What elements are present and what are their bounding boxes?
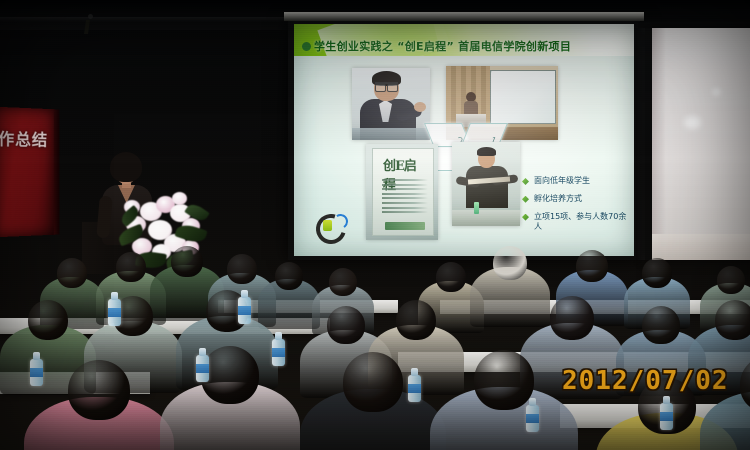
slide-bullet-list: 面向低年级学生 孵化培养方式 立项15项、参与人数70余人 xyxy=(522,176,630,240)
text-line xyxy=(382,193,428,195)
head xyxy=(68,360,130,420)
poster-heading: 创E启程 xyxy=(383,155,427,177)
head xyxy=(642,258,672,288)
head xyxy=(474,350,534,410)
bottle-label xyxy=(108,308,121,317)
head xyxy=(396,300,436,340)
bullet-item: 面向低年级学生 xyxy=(522,176,630,187)
head xyxy=(275,262,303,290)
water-bottle xyxy=(108,292,121,326)
poster-footer xyxy=(385,222,425,230)
slide-title-badge xyxy=(302,42,311,51)
light-blue-shirt-person xyxy=(430,350,578,450)
poster-sheet: 创E启程 xyxy=(372,148,434,236)
innovation-circle-logo-icon xyxy=(316,212,346,238)
poster-body-lines xyxy=(382,179,428,223)
slide-title-text: 学生创业实践之 “创E启程” 首届电信学院创新项目 xyxy=(314,40,571,53)
slide-photo-speaker xyxy=(352,68,430,140)
screen-diagonal xyxy=(491,71,555,123)
camera-date-stamp: 2012/07/02 xyxy=(562,366,729,396)
bullet-item: 立项15项、参与人数70余人 xyxy=(522,212,630,234)
presenter-hair xyxy=(110,152,142,182)
banner-text: 作总结 xyxy=(0,125,51,150)
bullet-text: 面向低年级学生 xyxy=(534,176,590,187)
text-line xyxy=(382,179,428,181)
inner-screen xyxy=(490,70,556,124)
pink-shirt-youth xyxy=(24,360,174,450)
bottle-cap xyxy=(241,290,248,298)
bottle-cap xyxy=(199,348,206,356)
text-line xyxy=(382,188,428,190)
bullet-text: 孵化培养方式 xyxy=(534,194,582,205)
conference-photo: 作总结 学生创业实践之 “创E启程” 首届电信学院创新项目 xyxy=(0,0,750,450)
water-bottle xyxy=(30,352,43,386)
bullet-marker-icon xyxy=(522,214,529,221)
head xyxy=(116,252,146,282)
screen-glare-spot xyxy=(684,116,701,129)
text-line xyxy=(382,211,428,213)
flower xyxy=(172,192,187,205)
demo-body xyxy=(466,166,508,208)
head xyxy=(57,258,87,288)
head xyxy=(28,300,68,340)
bottle-label xyxy=(238,306,251,315)
water-bottle xyxy=(196,348,209,382)
bottle-label xyxy=(526,414,539,423)
bottle-cap xyxy=(663,396,670,404)
demo-table xyxy=(452,210,520,226)
water-bottle xyxy=(526,398,539,432)
bullet-item: 孵化培养方式 xyxy=(522,194,630,205)
head xyxy=(717,266,745,294)
head xyxy=(576,250,608,282)
bottle-cap xyxy=(411,368,418,376)
bottle-label xyxy=(660,412,673,421)
text-line xyxy=(382,197,428,199)
water-bottle xyxy=(660,396,673,430)
ceiling-light-dot xyxy=(88,14,93,19)
demo-hair xyxy=(477,147,496,156)
logo-core xyxy=(323,220,332,231)
side-screen-base xyxy=(652,234,750,260)
projection-screen: 学生创业实践之 “创E启程” 首届电信学院创新项目 xyxy=(288,20,640,260)
presentation-slide: 学生创业实践之 “创E启程” 首届电信学院创新项目 xyxy=(294,24,634,256)
front-row-person xyxy=(300,352,446,450)
slide-photo-demo xyxy=(452,142,520,226)
bottle-label xyxy=(196,364,209,373)
red-banner: 作总结 xyxy=(0,107,55,238)
screen-glare-spot xyxy=(712,88,721,96)
head xyxy=(227,254,257,284)
speaker-desk xyxy=(352,128,430,140)
head xyxy=(327,306,365,344)
text-line xyxy=(382,184,428,186)
bottle-label xyxy=(30,368,43,377)
bottle-label xyxy=(272,348,285,357)
bottle-cap xyxy=(111,292,118,300)
bottle-cap xyxy=(33,352,40,360)
head xyxy=(171,246,203,277)
bullet-marker-icon xyxy=(522,178,529,185)
bottle-cap xyxy=(275,332,282,340)
text-line xyxy=(382,202,428,204)
water-bottle xyxy=(238,290,251,324)
bottle-label xyxy=(408,384,421,393)
slide-title: 学生创业实践之 “创E启程” 首届电信学院创新项目 xyxy=(302,38,632,54)
speaker-hand xyxy=(414,102,426,112)
bullet-text: 立项15项、参与人数70余人 xyxy=(534,212,630,234)
head xyxy=(715,300,750,340)
glasses-icon xyxy=(375,82,398,90)
demo-bottle xyxy=(474,202,479,214)
head xyxy=(329,268,357,296)
text-line xyxy=(382,207,428,209)
water-bottle xyxy=(408,368,421,402)
bullet-marker-icon xyxy=(522,196,529,203)
side-projection-panel xyxy=(645,28,750,260)
head xyxy=(493,246,527,280)
head xyxy=(436,262,466,292)
head xyxy=(550,296,594,340)
head xyxy=(343,352,403,412)
bottle-cap xyxy=(529,398,536,406)
head xyxy=(201,346,259,404)
head xyxy=(642,306,680,344)
water-bottle xyxy=(272,332,285,366)
slide-photo-poster: 创E启程 xyxy=(366,144,438,240)
